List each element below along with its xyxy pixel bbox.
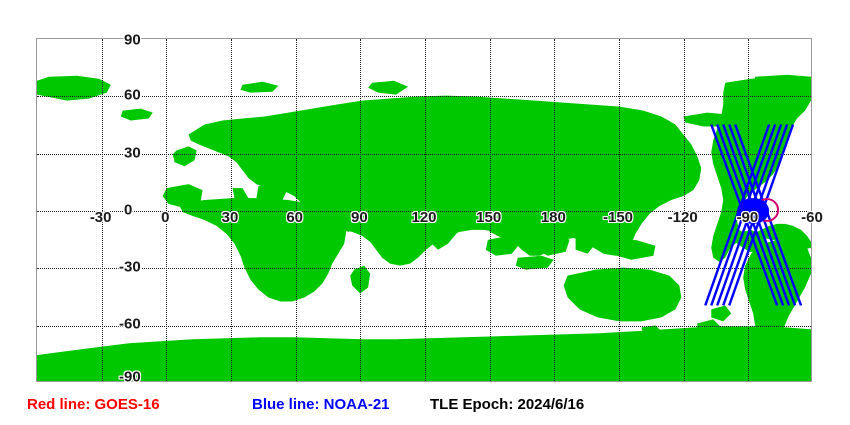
legend-caption-row: Red line: GOES-16 Blue line: NOAA-21 TLE… <box>0 392 850 418</box>
tle-epoch-label: TLE Epoch: 2024/6/16 <box>430 392 584 418</box>
world-map-frame <box>36 38 812 382</box>
legend-goes16: Red line: GOES-16 <box>27 392 160 418</box>
satellite-ground-track-map: -30 0 30 60 90 120 150 180 -150 -120 -90… <box>0 0 850 425</box>
legend-noaa21: Blue line: NOAA-21 <box>252 392 390 418</box>
satellite-track-layer <box>37 39 811 381</box>
noaa21-marker <box>737 198 769 224</box>
world-map-canvas <box>37 39 811 381</box>
